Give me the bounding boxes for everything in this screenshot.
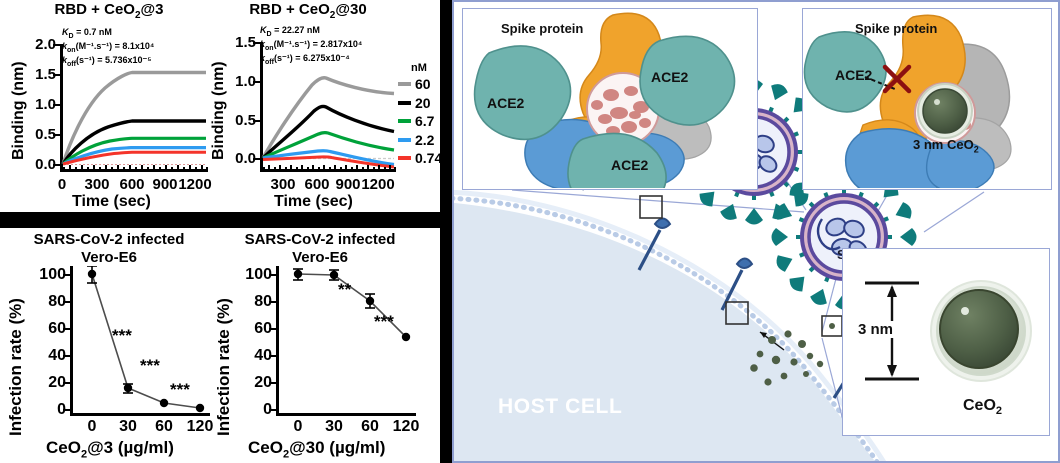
legend-title: nM <box>411 62 442 74</box>
plot-area <box>60 44 208 172</box>
y-tick-label: 100 <box>224 266 272 284</box>
y-tick-label: 40 <box>18 347 66 365</box>
x-axis-label: Time (sec) <box>274 193 353 211</box>
x-axis-label: CeO2@30 (µg/ml) <box>248 438 385 460</box>
y-tick-label: 20 <box>18 374 66 392</box>
y-tick-label: 20 <box>224 374 272 392</box>
chart-title: RBD + CeO2@30 <box>212 2 404 22</box>
x-tick-label: 300 <box>82 176 112 193</box>
chart-bli-ceo2-30: RBD + CeO2@30 KD = 22.27 nM kon(M⁻¹.s⁻¹)… <box>212 0 440 212</box>
significance-marker: *** <box>170 380 190 400</box>
ceo2-nanoparticle <box>923 89 967 133</box>
x-tick-label: 30 <box>113 418 143 436</box>
ceo2-label: CeO2 <box>963 397 1002 417</box>
legend-swatch <box>398 156 411 160</box>
significance-marker: ** <box>338 280 351 300</box>
x-axis-label: Time (sec) <box>72 193 151 211</box>
legend-swatch <box>398 119 411 123</box>
x-tick-label: 120 <box>390 418 422 436</box>
kd-annotation: KD = 0.7 nM <box>62 27 112 40</box>
y-tick-label: 0.0 <box>212 150 256 167</box>
legend-item: 6.7 <box>398 112 442 131</box>
x-tick-label: 300 <box>268 176 298 193</box>
x-tick-label: 1200 <box>360 176 396 193</box>
y-tick-label: 80 <box>224 293 272 311</box>
plot-area <box>260 42 396 172</box>
y-tick-label: 0.5 <box>12 126 56 143</box>
y-tick-label: 0.5 <box>212 112 256 129</box>
legend-swatch <box>398 138 411 142</box>
chart-title-line1: SARS-CoV-2 infected <box>0 232 218 248</box>
chart-title-line2: Vero-E6 <box>214 250 426 266</box>
x-tick-label: 0 <box>80 418 104 436</box>
ceo2-nanoparticle <box>940 290 1018 368</box>
y-tick-label: 0.0 <box>12 156 56 173</box>
nanoparticle-scale <box>843 249 1048 434</box>
legend-item: 20 <box>398 94 442 113</box>
legend-item: 0.74 <box>398 149 442 168</box>
bli-curves <box>260 42 396 172</box>
x-tick-label: 600 <box>117 176 147 193</box>
x-tick-label: 120 <box>184 418 216 436</box>
inset-ceo2-nanoparticle: 3 nm CeO2 <box>842 248 1050 436</box>
chart-title-line2: Vero-E6 <box>0 250 218 266</box>
inset-ceo2-blocking: Spike protein ACE2 3 nm CeO2 <box>802 8 1052 190</box>
ace2-label: ACE2 <box>487 95 524 111</box>
y-tick-label: 1.5 <box>12 66 56 83</box>
y-tick-label: 60 <box>18 320 66 338</box>
y-tick-label: 1.5 <box>212 34 256 51</box>
y-tick-label: 1.0 <box>212 73 256 90</box>
chart-infection-ceo2-30: SARS-CoV-2 infected Vero-E6 Infection ra… <box>214 228 440 463</box>
y-tick-label: 60 <box>224 320 272 338</box>
significance-marker: *** <box>140 356 160 376</box>
x-tick-label: 600 <box>302 176 332 193</box>
chart-bli-ceo2-3: RBD + CeO2@3 KD = 0.7 nM kon(M⁻¹.s⁻¹) = … <box>0 0 218 212</box>
ace2-label: ACE2 <box>835 67 872 83</box>
bli-charts-panel: RBD + CeO2@3 KD = 0.7 nM kon(M⁻¹.s⁻¹) = … <box>0 0 440 212</box>
y-tick-label: 80 <box>18 293 66 311</box>
x-axis-label: CeO2@3 (µg/ml) <box>46 438 174 460</box>
x-tick-label: 1200 <box>177 176 213 193</box>
inset-spike-ace2-binding: Spike protein ACE2 ACE2 ACE2 <box>462 8 758 190</box>
x-tick-label: 60 <box>149 418 179 436</box>
ace2-label: ACE2 <box>651 69 688 85</box>
legend-item: 60 <box>398 75 442 94</box>
ceo2-size-label: 3 nm CeO2 <box>913 137 979 155</box>
spike-protein-label: Spike protein <box>501 21 583 36</box>
x-tick-label: 0 <box>286 418 310 436</box>
legend-item: 2.2 <box>398 131 442 150</box>
legend-swatch <box>398 82 411 86</box>
x-tick-label: 0 <box>50 176 74 193</box>
chart-title-line1: SARS-CoV-2 infected <box>214 232 426 248</box>
ace2-label: ACE2 <box>611 157 648 173</box>
legend-swatch <box>398 101 411 105</box>
x-tick-label: 900 <box>333 176 363 193</box>
spike-protein-label: Spike protein <box>855 21 937 36</box>
significance-marker: *** <box>374 312 394 332</box>
y-tick-label: 100 <box>18 266 66 284</box>
chart-title: RBD + CeO2@3 <box>0 2 218 22</box>
x-tick-label: 60 <box>355 418 385 436</box>
y-tick-label: 0 <box>224 401 272 419</box>
figure-root: RBD + CeO2@3 KD = 0.7 nM kon(M⁻¹.s⁻¹) = … <box>0 0 1060 463</box>
host-cell-label: HOST CELL <box>498 395 622 419</box>
y-tick-label: 2.0 <box>12 36 56 53</box>
scale-label: 3 nm <box>855 321 896 338</box>
significance-marker: *** <box>112 326 132 346</box>
y-tick-label: 40 <box>224 347 272 365</box>
ace2-molecule <box>475 46 571 139</box>
chart-infection-ceo2-3: SARS-CoV-2 infected Vero-E6 Infection ra… <box>0 228 218 463</box>
y-tick-label: 0 <box>18 401 66 419</box>
kd-annotation: KD = 22.27 nM <box>260 25 320 38</box>
legend: nM 60 20 6.7 2.2 0.74 <box>398 62 442 168</box>
x-tick-label: 900 <box>150 176 180 193</box>
mechanism-diagram: HOST CELL SARS-CoV-2 ACE2 <box>452 0 1060 463</box>
infection-charts-panel: SARS-CoV-2 infected Vero-E6 Infection ra… <box>0 228 440 463</box>
y-tick-label: 1.0 <box>12 96 56 113</box>
x-tick-label: 30 <box>319 418 349 436</box>
bli-curves <box>60 44 208 172</box>
